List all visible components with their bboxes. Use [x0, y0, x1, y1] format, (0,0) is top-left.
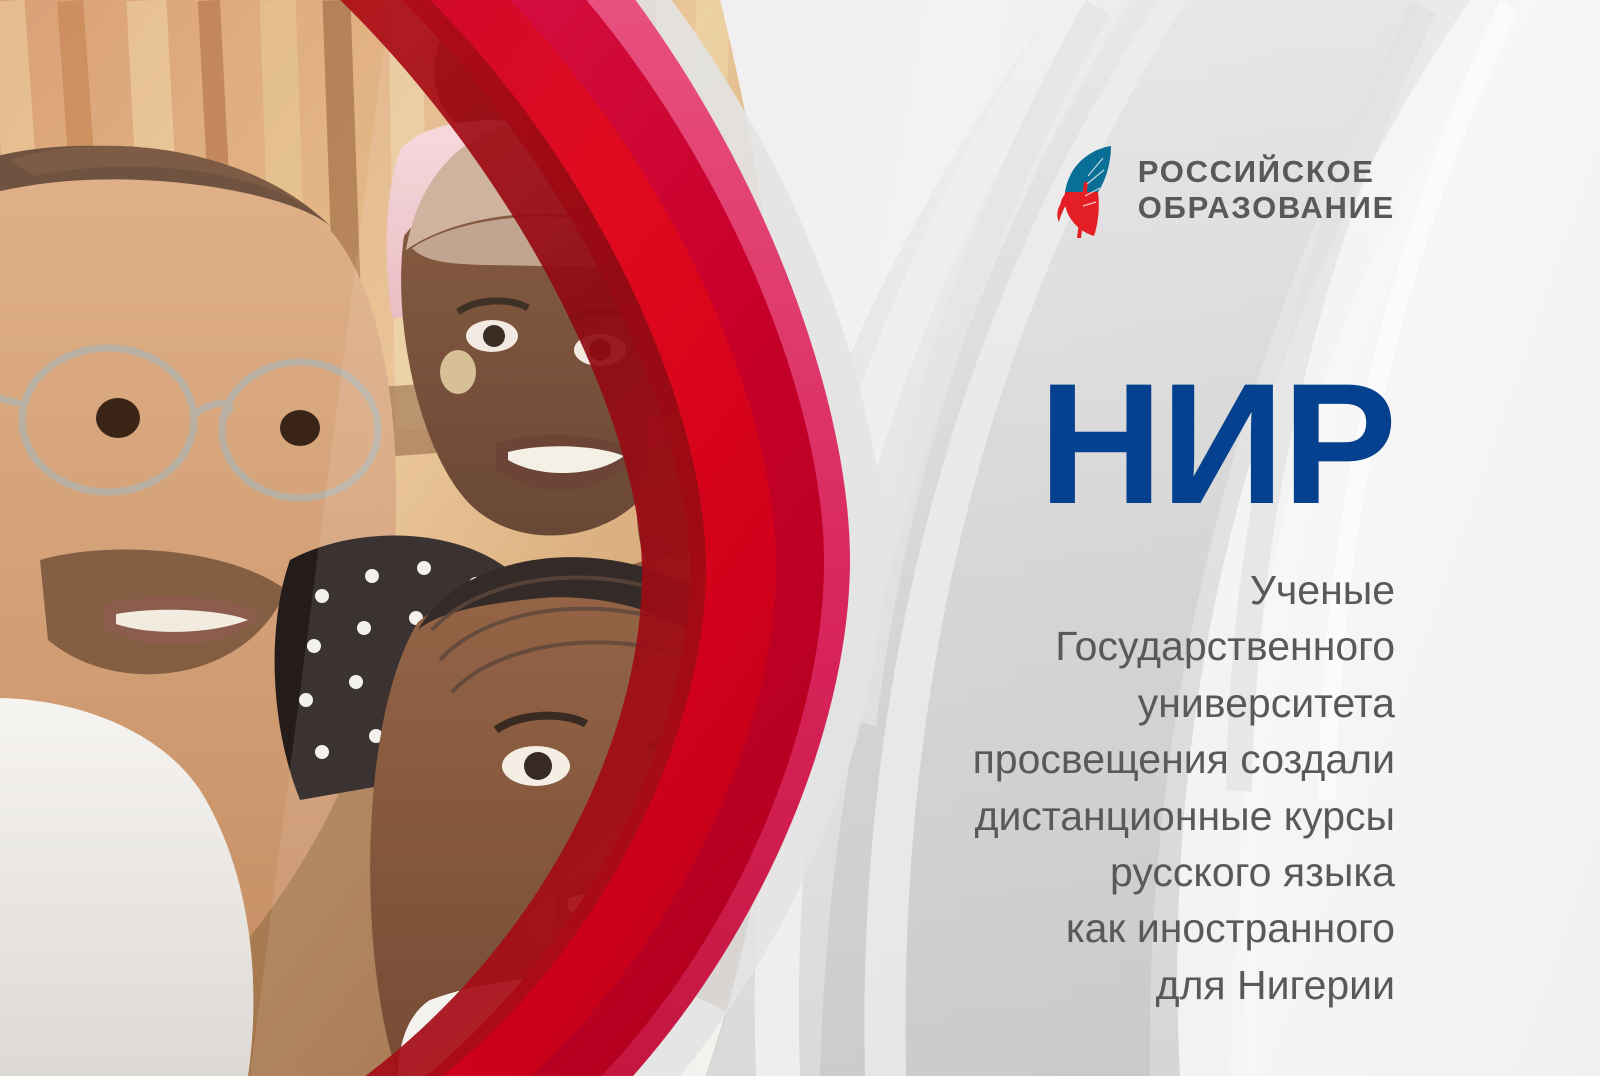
- promo-banner: РОССИЙСКОЕ ОБРАЗОВАНИЕ НИР Ученые Госуда…: [0, 0, 1600, 1076]
- body-text: Ученые Государственного университета про…: [855, 562, 1395, 1013]
- brand-logo-text: РОССИЙСКОЕ ОБРАЗОВАНИЕ: [1138, 154, 1395, 226]
- content-column: РОССИЙСКОЕ ОБРАЗОВАНИЕ НИР Ученые Госуда…: [820, 0, 1600, 1076]
- feather-quill-icon: [1054, 142, 1116, 238]
- brand-logo[interactable]: РОССИЙСКОЕ ОБРАЗОВАНИЕ: [1054, 142, 1395, 238]
- page-title: НИР: [1039, 358, 1395, 530]
